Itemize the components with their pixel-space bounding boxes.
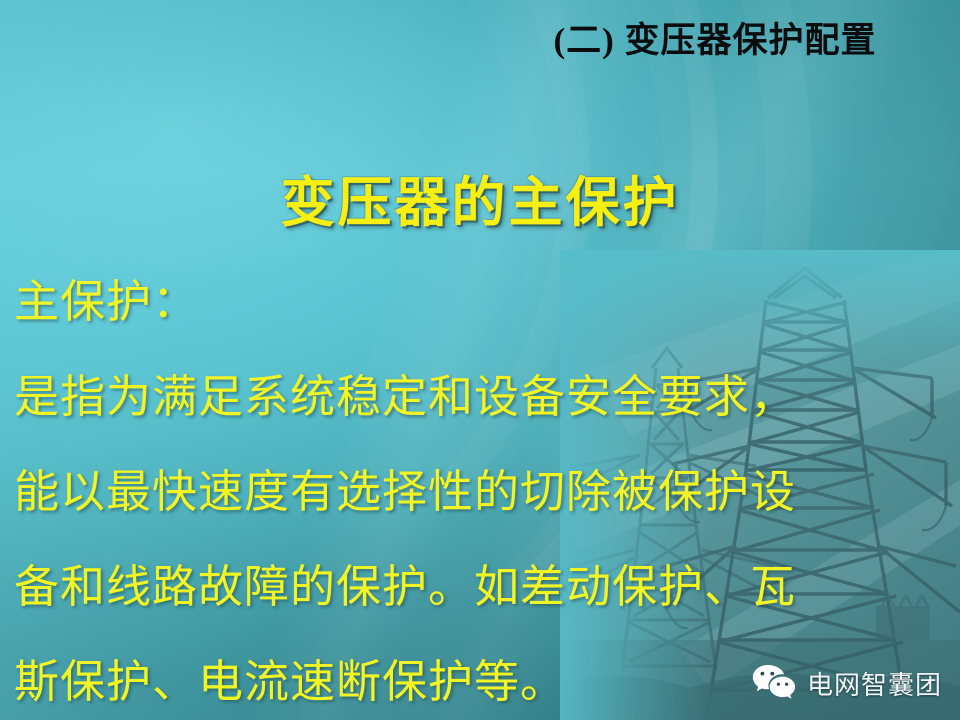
- watermark: 电网智囊团: [751, 663, 942, 704]
- body-line: 主保护：: [14, 255, 894, 350]
- body-line: 是指为满足系统稳定和设备安全要求，: [14, 350, 894, 445]
- watermark-label: 电网智囊团: [807, 665, 942, 702]
- slide-canvas: (二) 变压器保护配置 变压器的主保护 主保护： 是指为满足系统稳定和设备安全要…: [0, 0, 960, 720]
- page-title: 变压器的主保护: [0, 158, 960, 237]
- wechat-icon-glyph: [751, 663, 797, 699]
- body-line: 能以最快速度有选择性的切除被保护设: [14, 445, 894, 540]
- wechat-icon: [751, 663, 797, 704]
- body-line: 备和线路故障的保护。如差动保护、瓦: [14, 540, 894, 635]
- body-text-block: 主保护： 是指为满足系统稳定和设备安全要求， 能以最快速度有选择性的切除被保护设…: [14, 255, 894, 720]
- header-title: (二) 变压器保护配置: [505, 12, 925, 63]
